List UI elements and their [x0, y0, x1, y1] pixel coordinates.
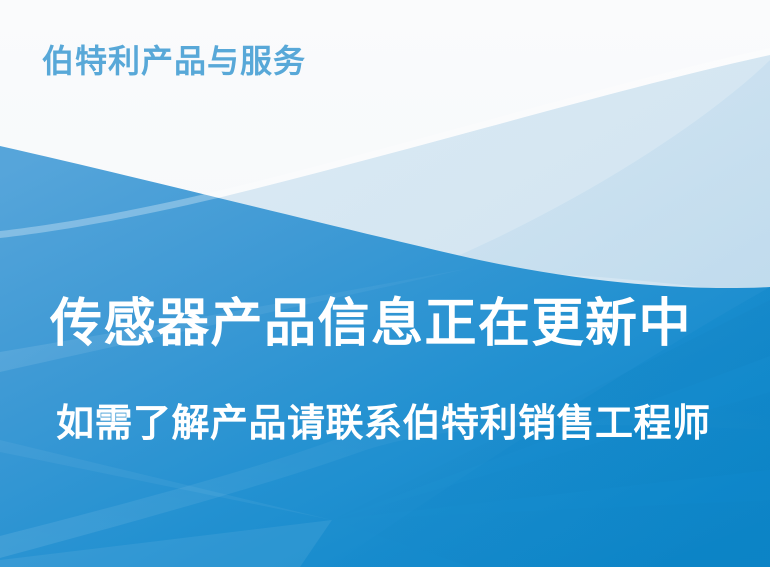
headline-secondary: 如需了解产品请联系伯特利销售工程师 — [56, 404, 711, 446]
page-title: 伯特利产品与服务 — [42, 44, 306, 79]
product-service-banner: 伯特利产品与服务 传感器产品信息正在更新中 如需了解产品请联系伯特利销售工程师 — [0, 0, 770, 567]
headline-primary: 传感器产品信息正在更新中 — [50, 296, 692, 353]
banner-content: 伯特利产品与服务 传感器产品信息正在更新中 如需了解产品请联系伯特利销售工程师 — [0, 0, 770, 567]
